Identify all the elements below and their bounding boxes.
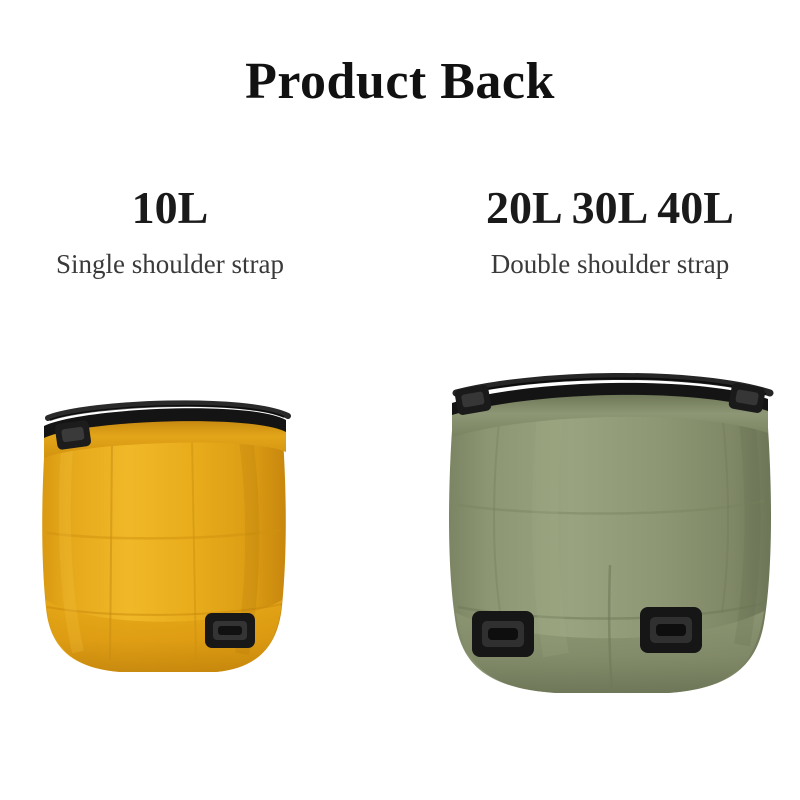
product-column-right: 20L 30L 40L Double shoulder strap bbox=[420, 185, 800, 280]
buckle-bottom-yellow bbox=[205, 613, 255, 648]
dry-bag-yellow-image bbox=[20, 360, 350, 700]
strap-label-left: Single shoulder strap bbox=[10, 249, 330, 280]
page-title: Product Back bbox=[0, 52, 800, 111]
buckle-bottom-left-green bbox=[472, 611, 534, 657]
buckle-bottom-right-green bbox=[640, 607, 702, 653]
buckle-left-yellow bbox=[54, 420, 91, 450]
product-back-image: Product Back 10L Single shoulder strap 2… bbox=[0, 0, 800, 800]
dry-bag-green-image bbox=[430, 355, 790, 705]
volume-label-left: 10L bbox=[10, 185, 330, 231]
strap-label-right: Double shoulder strap bbox=[420, 249, 800, 280]
volume-label-right: 20L 30L 40L bbox=[420, 185, 800, 231]
product-column-left: 10L Single shoulder strap bbox=[10, 185, 330, 280]
